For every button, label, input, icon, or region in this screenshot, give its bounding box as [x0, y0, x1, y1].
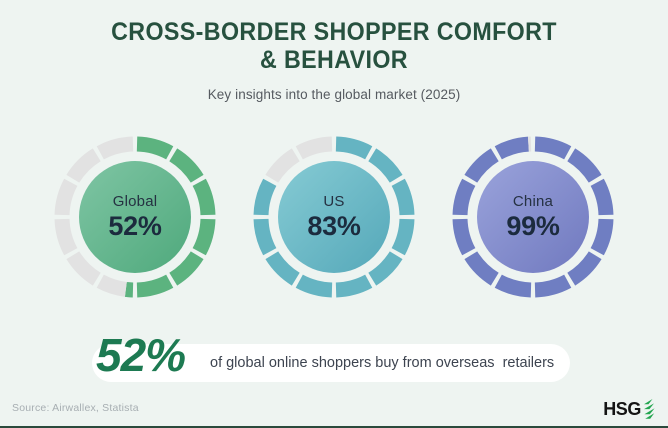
donut-chart-row: Global52%US83%China99%: [0, 132, 668, 302]
page-title-line1: CROSS-BORDER SHOPPER COMFORT: [111, 18, 557, 46]
header: CROSS-BORDER SHOPPER COMFORT & BEHAVIOR …: [0, 0, 668, 102]
donut-label: China: [513, 193, 553, 210]
donut-segment: [597, 182, 606, 215]
donut-value: 99%: [506, 211, 559, 241]
page-title-line2: & BEHAVIOR: [23, 46, 644, 74]
donut-segment: [535, 281, 568, 290]
donut-segment: [100, 281, 126, 289]
donut-center-content: US83%: [278, 161, 390, 273]
donut-chart-us: US83%: [249, 132, 419, 302]
donut-segment: [535, 144, 568, 153]
donut-segment: [73, 255, 97, 279]
donut-segment: [272, 255, 296, 279]
source-note: Source: Airwallex, Statista: [12, 402, 139, 414]
donut-segment: [137, 144, 170, 153]
donut-segment: [100, 144, 133, 153]
donut-segment: [299, 144, 332, 153]
donut-segment: [571, 155, 595, 179]
donut-segment: [498, 281, 531, 290]
donut-center-content: China99%: [477, 161, 589, 273]
donut-segment: [173, 155, 197, 179]
donut-segment: [372, 255, 396, 279]
page-subtitle: Key insights into the global market (202…: [0, 87, 668, 102]
donut-segment: [597, 219, 606, 252]
page-title: CROSS-BORDER SHOPPER COMFORT & BEHAVIOR: [23, 18, 644, 74]
donut-segment: [336, 144, 369, 153]
donut-segment: [398, 182, 407, 215]
donut-segment: [137, 281, 170, 290]
donut-segment: [199, 219, 208, 252]
donut-segment: [471, 155, 495, 179]
donut-segment: [460, 219, 469, 252]
infographic-canvas: CROSS-BORDER SHOPPER COMFORT & BEHAVIOR …: [0, 0, 668, 428]
donut-label: US: [323, 193, 344, 210]
donut-chart-china: China99%: [448, 132, 618, 302]
donut-segment: [261, 219, 270, 252]
donut-segment: [261, 182, 270, 215]
donut-segment: [173, 255, 197, 279]
donut-center-content: Global52%: [79, 161, 191, 273]
donut-segment: [336, 281, 369, 290]
brand-logo-text: HSG: [603, 400, 641, 418]
donut-segment: [498, 144, 528, 153]
green-bolt-icon: [642, 399, 658, 419]
donut-segment: [571, 255, 595, 279]
donut-segment: [62, 219, 71, 252]
donut-segment: [126, 289, 133, 290]
donut-segment: [62, 182, 71, 215]
donut-value: 52%: [108, 211, 161, 241]
donut-value: 83%: [307, 211, 360, 241]
highlight-text: of global online shoppers buy from overs…: [210, 353, 554, 373]
donut-segment: [272, 155, 296, 179]
donut-segment: [398, 219, 407, 252]
donut-segment: [372, 155, 396, 179]
donut-segment: [471, 255, 495, 279]
brand-logo: HSG: [603, 399, 658, 419]
donut-segment: [73, 155, 97, 179]
donut-segment: [299, 281, 332, 290]
highlight-callout: 52% of global online shoppers buy from o…: [92, 344, 570, 382]
donut-label: Global: [113, 193, 158, 210]
highlight-value: 52%: [96, 328, 185, 382]
donut-segment: [460, 182, 469, 215]
donut-chart-global: Global52%: [50, 132, 220, 302]
donut-segment: [199, 182, 208, 215]
